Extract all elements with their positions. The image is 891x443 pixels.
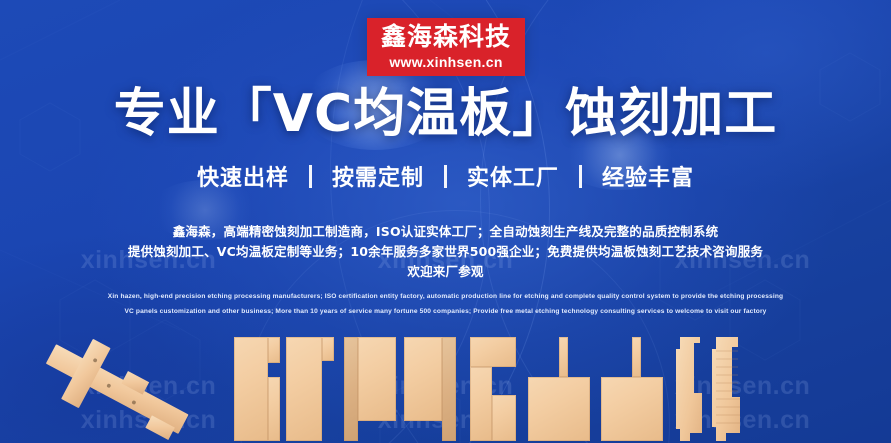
product-plate-paddle-2-handle [632,337,641,377]
description-cn-line-3: 欢迎来厂参观 [0,262,891,282]
feature-separator-icon [309,165,312,188]
feature-separator-icon [579,165,582,188]
feature-separator-icon [444,165,447,188]
description-en-line-1: Xin hazen, high-end precision etching pr… [0,289,891,304]
product-plate-notched-2 [286,337,322,441]
description-en-line-2: VC panels customization and other busine… [0,304,891,319]
product-plate-step-bottom [492,395,516,441]
product-plate-strip-pair-icon [676,337,748,441]
company-logo: 鑫海森科技 www.xinhsen.cn [367,18,525,76]
feature-item-4: 经验丰富 [602,160,694,192]
product-plate-t-shape-1-stem [344,337,358,441]
product-plate-paddle-1-head [528,377,590,441]
product-plate-paddle-1-handle [559,337,568,377]
description-cn-line-2: 提供蚀刻加工、VC均温板定制等业务；10余年服务多家世界500强企业；免费提供均… [0,242,891,262]
product-plate-strip-pair [676,337,748,441]
product-plate-notched-2-tab [322,337,334,361]
product-plate-step-left [470,367,492,441]
feature-item-3: 实体工厂 [467,160,559,192]
feature-item-2: 按需定制 [332,160,424,192]
product-plate-step-top [470,337,516,367]
promotional-banner: xinhsen.cn xinhsen.cn xinhsen.cn xinhsen… [0,0,891,443]
product-plate-t-shape-2-stem [442,337,456,441]
product-sample-images [0,335,891,443]
feature-item-1: 快速出样 [197,160,289,192]
logo-company-name: 鑫海森科技 [381,24,511,50]
product-plate-t-shape-2-head [404,337,442,421]
feature-list: 快速出样 按需定制 实体工厂 经验丰富 [0,160,891,192]
product-plate-notched-1-tab [268,337,280,363]
product-plate-notched-1-body [268,377,280,441]
product-plate-cross [20,337,210,441]
product-plate-paddle-2-head [601,377,663,441]
description-chinese: 鑫海森，高端精密蚀刻加工制造商，ISO认证实体工厂；全自动蚀刻生产线及完整的品质… [0,222,891,282]
product-plate-notched-1 [234,337,268,441]
logo-website-url: www.xinhsen.cn [389,54,502,70]
main-headline: 专业「VC均温板」蚀刻加工 [0,88,891,140]
description-english: Xin hazen, high-end precision etching pr… [0,289,891,319]
product-plate-cross-icon [20,337,210,441]
product-plate-t-shape-1-head [358,337,396,421]
description-cn-line-1: 鑫海森，高端精密蚀刻加工制造商，ISO认证实体工厂；全自动蚀刻生产线及完整的品质… [0,222,891,242]
